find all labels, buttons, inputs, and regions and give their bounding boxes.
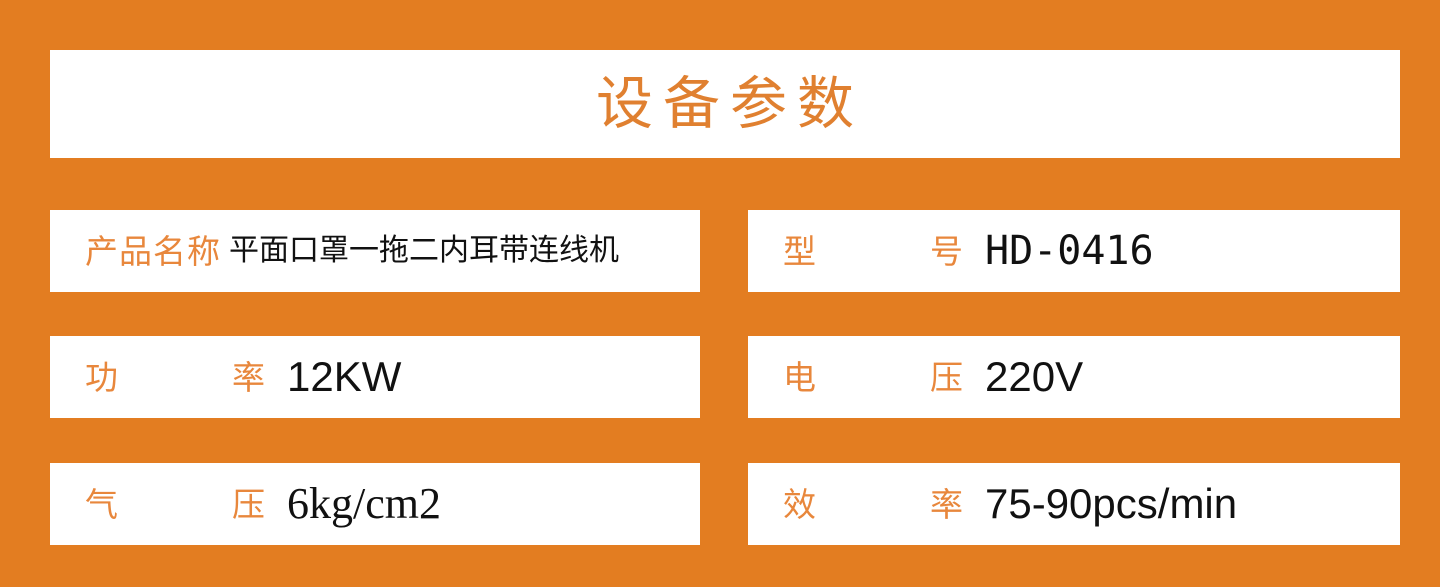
spec-value-efficiency: 75-90pcs/min bbox=[985, 483, 1237, 525]
spec-label-product-name: 产品名称 bbox=[85, 235, 221, 268]
table-row: 功 率 12KW 电 压 220V bbox=[50, 336, 1400, 418]
spec-label-power-char-1: 功 bbox=[85, 361, 118, 394]
spec-label-power-char-2: 率 bbox=[232, 361, 265, 394]
spec-value-model: HD-0416 bbox=[985, 231, 1154, 271]
page-title: 设备参数 bbox=[586, 76, 864, 133]
spec-cell-efficiency: 效 率 75-90pcs/min bbox=[748, 463, 1400, 545]
spec-cell-product-name: 产品名称 平面口罩一拖二内耳带连线机 bbox=[50, 210, 700, 292]
spec-cell-model: 型 号 HD-0416 bbox=[748, 210, 1400, 292]
spec-label-voltage-char-1: 电 bbox=[783, 361, 816, 394]
title-card: 设备参数 bbox=[50, 50, 1400, 158]
spec-label-model-char-1: 型 bbox=[783, 235, 816, 268]
spec-label-air-pressure-char-2: 压 bbox=[232, 488, 265, 521]
spec-table: 产品名称 平面口罩一拖二内耳带连线机 型 号 HD-0416 功 率 12KW bbox=[50, 210, 1400, 545]
spec-label-air-pressure: 气 压 bbox=[85, 488, 265, 521]
spec-label-efficiency-char-1: 效 bbox=[783, 488, 816, 521]
spec-value-product-name: 平面口罩一拖二内耳带连线机 bbox=[229, 236, 619, 266]
spec-label-efficiency: 效 率 bbox=[783, 488, 963, 521]
spec-cell-voltage: 电 压 220V bbox=[748, 336, 1400, 418]
spec-label-air-pressure-char-1: 气 bbox=[85, 488, 118, 521]
spec-label-voltage: 电 压 bbox=[783, 361, 963, 394]
spec-label-model-char-2: 号 bbox=[930, 235, 963, 268]
spec-label-model: 型 号 bbox=[783, 235, 963, 268]
spec-value-power: 12KW bbox=[287, 356, 401, 398]
spec-label-voltage-char-2: 压 bbox=[930, 361, 963, 394]
spec-label-efficiency-char-2: 率 bbox=[930, 488, 963, 521]
spec-cell-power: 功 率 12KW bbox=[50, 336, 700, 418]
spec-value-air-pressure: 6kg/cm2 bbox=[287, 482, 441, 526]
spec-label-power: 功 率 bbox=[85, 361, 265, 394]
spec-cell-air-pressure: 气 压 6kg/cm2 bbox=[50, 463, 700, 545]
spec-value-voltage: 220V bbox=[985, 356, 1083, 398]
table-row: 产品名称 平面口罩一拖二内耳带连线机 型 号 HD-0416 bbox=[50, 210, 1400, 292]
equipment-parameters-sheet: 设备参数 产品名称 平面口罩一拖二内耳带连线机 型 号 HD-0416 功 bbox=[0, 0, 1440, 587]
table-row: 气 压 6kg/cm2 效 率 75-90pcs/min bbox=[50, 463, 1400, 545]
